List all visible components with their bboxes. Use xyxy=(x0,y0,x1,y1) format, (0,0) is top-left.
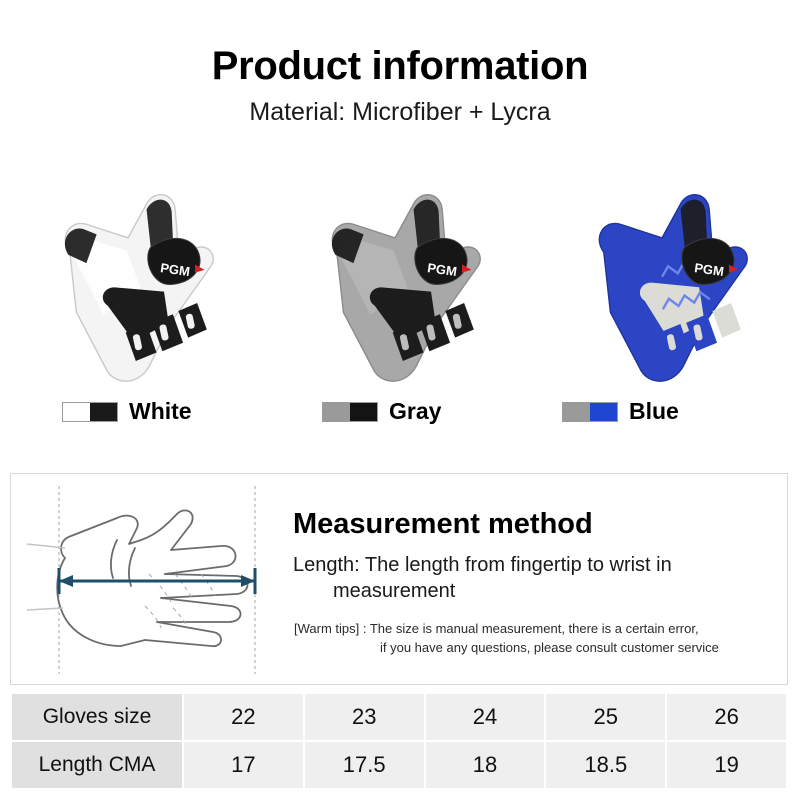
measurement-description: Length: The length from fingertip to wri… xyxy=(293,552,763,604)
legend-label-gray: Gray xyxy=(389,398,441,425)
swatch-half-left xyxy=(323,403,350,421)
swatch-half-left xyxy=(563,403,590,421)
cell-gloves-size-1: 23 xyxy=(305,694,424,740)
row-label-gloves-size: Gloves size xyxy=(12,694,182,740)
legend-item-gray[interactable]: Gray xyxy=(322,398,441,425)
swatch-half-left xyxy=(63,403,90,421)
swatch-half-right xyxy=(90,403,117,421)
cell-gloves-size-3: 25 xyxy=(546,694,665,740)
measurement-desc-line1: Length: The length from fingertip to wri… xyxy=(293,554,672,576)
cell-gloves-size-4: 26 xyxy=(667,694,786,740)
cell-length-cma-4: 19 xyxy=(667,742,786,788)
glove-image-blue: PGM xyxy=(547,180,787,395)
color-legend: White Gray Blue xyxy=(0,398,800,430)
cell-length-cma-2: 18 xyxy=(426,742,545,788)
material-subtitle: Material: Microfiber + Lycra xyxy=(0,98,800,127)
warm-tips-line2: if you have any questions, please consul… xyxy=(294,638,789,657)
cell-gloves-size-2: 24 xyxy=(426,694,545,740)
measurement-desc-line2: measurement xyxy=(293,578,763,604)
cell-length-cma-3: 18.5 xyxy=(546,742,665,788)
table-row-length-cma: Length CMA 17 17.5 18 18.5 19 xyxy=(12,742,786,788)
product-information-page: Product information Material: Microfiber… xyxy=(0,0,800,800)
product-image-row: PGM xyxy=(0,170,800,395)
swatch-half-right xyxy=(590,403,617,421)
length-measure-arrow xyxy=(59,568,255,594)
measurement-title: Measurement method xyxy=(293,508,593,541)
color-swatch-blue xyxy=(562,402,618,422)
product-card-white[interactable]: PGM xyxy=(13,180,253,395)
hand-measurement-illustration xyxy=(25,482,287,678)
measurement-panel: Measurement method Length: The length fr… xyxy=(10,473,788,685)
swatch-half-right xyxy=(350,403,377,421)
glove-image-white: PGM xyxy=(13,180,253,395)
warm-tips-line1: [Warm tips] : The size is manual measure… xyxy=(294,621,699,636)
page-title: Product information xyxy=(0,44,800,89)
glove-image-gray: PGM xyxy=(280,180,520,395)
color-swatch-gray xyxy=(322,402,378,422)
row-label-length-cma: Length CMA xyxy=(12,742,182,788)
product-card-blue[interactable]: PGM xyxy=(547,180,787,395)
table-row-gloves-size: Gloves size 22 23 24 25 26 xyxy=(12,694,786,740)
legend-item-white[interactable]: White xyxy=(62,398,192,425)
color-swatch-white xyxy=(62,402,118,422)
cell-gloves-size-0: 22 xyxy=(184,694,303,740)
product-card-gray[interactable]: PGM xyxy=(280,180,520,395)
cell-length-cma-0: 17 xyxy=(184,742,303,788)
hand-diagram xyxy=(25,482,287,678)
warm-tips: [Warm tips] : The size is manual measure… xyxy=(294,619,789,657)
legend-label-blue: Blue xyxy=(629,398,679,425)
size-table: Gloves size 22 23 24 25 26 Length CMA 17… xyxy=(10,692,788,790)
cell-length-cma-1: 17.5 xyxy=(305,742,424,788)
legend-item-blue[interactable]: Blue xyxy=(562,398,679,425)
legend-label-white: White xyxy=(129,398,192,425)
